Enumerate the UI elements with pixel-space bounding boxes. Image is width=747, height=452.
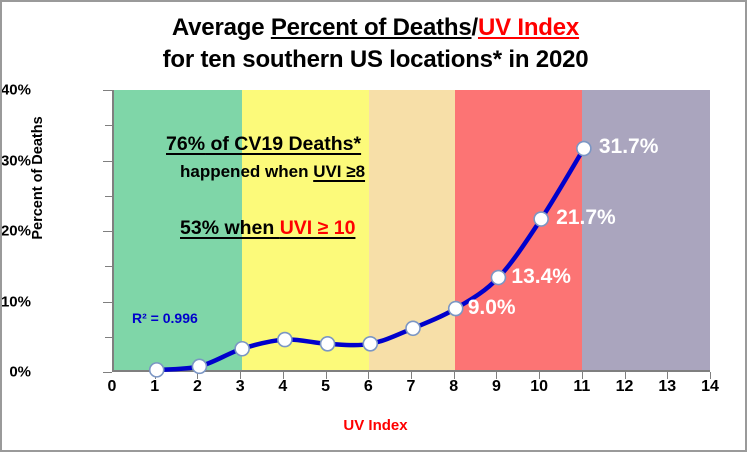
data-point-marker[interactable] (321, 337, 335, 351)
x-tick-mark-9 (496, 372, 497, 379)
data-label-31-7pct: 31.7% (599, 135, 659, 159)
annotation-76-value: 76% (166, 133, 205, 155)
title-line1: Average Percent of Deaths/UV Index (172, 14, 579, 41)
y-tick-label-20pct: 20% (0, 223, 31, 240)
data-label-13-4pct: 13.4% (511, 265, 571, 289)
x-tick-mark-5 (326, 372, 327, 379)
y-tick-mark-minor-5 (105, 337, 112, 338)
y-tick-mark-30 (103, 161, 112, 162)
x-tick-label-6: 6 (351, 378, 385, 396)
x-tick-label-5: 5 (309, 378, 343, 396)
annotation-76-text: of CV19 Deaths* (205, 133, 361, 155)
x-tick-mark-6 (368, 372, 369, 379)
title-prefix: Average (172, 14, 271, 41)
x-tick-mark-7 (411, 372, 412, 379)
x-tick-label-8: 8 (437, 378, 471, 396)
x-tick-mark-11 (582, 372, 583, 379)
data-point-marker[interactable] (449, 302, 463, 316)
y-axis-title: Percent of Deaths (30, 98, 46, 258)
title-line2: for ten southern US locations* in 2020 (2, 44, 747, 76)
x-tick-mark-12 (625, 372, 626, 379)
data-point-marker[interactable] (406, 321, 420, 335)
x-tick-label-13: 13 (650, 378, 684, 396)
x-tick-mark-14 (710, 372, 711, 379)
data-point-marker[interactable] (278, 333, 292, 347)
data-label-9-0pct: 9.0% (468, 296, 516, 320)
x-tick-mark-10 (539, 372, 540, 379)
x-tick-mark-4 (283, 372, 284, 379)
x-tick-label-14: 14 (693, 378, 727, 396)
annotation-53-prefix: 53% when (180, 217, 280, 239)
x-axis-title: UV Index (2, 417, 747, 434)
y-tick-mark-minor-15 (105, 266, 112, 267)
y-tick-mark-minor-25 (105, 196, 112, 197)
annotation-76-percent: 76% of CV19 Deaths* (166, 133, 361, 156)
annotation-uvi-ge-10: UVI ≥ 10 (280, 217, 356, 239)
data-point-marker[interactable] (192, 359, 206, 373)
data-point-marker[interactable] (235, 342, 249, 356)
y-tick-mark-minor-35 (105, 125, 112, 126)
x-tick-label-3: 3 (223, 378, 257, 396)
title-uv-index: UV Index (478, 14, 579, 41)
data-point-marker[interactable] (577, 142, 591, 156)
annotation-happened-uvi8: happened when UVI ≥8 (180, 162, 365, 182)
data-point-marker[interactable] (491, 271, 505, 285)
y-tick-mark-10 (103, 302, 112, 303)
data-point-marker[interactable] (534, 212, 548, 226)
x-tick-mark-13 (667, 372, 668, 379)
data-point-marker[interactable] (150, 363, 164, 377)
x-tick-label-11: 11 (565, 378, 599, 396)
y-tick-label-40pct: 40% (0, 82, 31, 99)
x-tick-label-1: 1 (138, 378, 172, 396)
annotation-uvi-ge-8: UVI ≥8 (313, 162, 365, 181)
chart-title: Average Percent of Deaths/UV Index for t… (2, 12, 747, 75)
x-tick-mark-8 (454, 372, 455, 379)
x-tick-label-0: 0 (95, 378, 129, 396)
x-tick-label-12: 12 (608, 378, 642, 396)
y-tick-mark-0 (103, 372, 112, 373)
chart-container: Average Percent of Deaths/UV Index for t… (0, 0, 747, 452)
x-tick-label-4: 4 (266, 378, 300, 396)
x-tick-label-10: 10 (522, 378, 556, 396)
data-label-21-7pct: 21.7% (556, 206, 616, 230)
title-percent-of-deaths: Percent of Deaths (271, 14, 472, 41)
x-tick-label-9: 9 (479, 378, 513, 396)
x-tick-mark-3 (240, 372, 241, 379)
annotation-happened-prefix: happened when (180, 162, 313, 181)
x-tick-label-7: 7 (394, 378, 428, 396)
x-tick-label-2: 2 (180, 378, 214, 396)
y-tick-label-0pct: 0% (0, 364, 31, 381)
annotation-r-squared: R² = 0.996 (132, 310, 198, 326)
y-tick-mark-40 (103, 90, 112, 91)
y-tick-label-10pct: 10% (0, 293, 31, 310)
annotation-53-percent: 53% when UVI ≥ 10 (180, 217, 355, 240)
data-point-marker[interactable] (363, 337, 377, 351)
y-tick-mark-20 (103, 231, 112, 232)
y-tick-label-30pct: 30% (0, 152, 31, 169)
